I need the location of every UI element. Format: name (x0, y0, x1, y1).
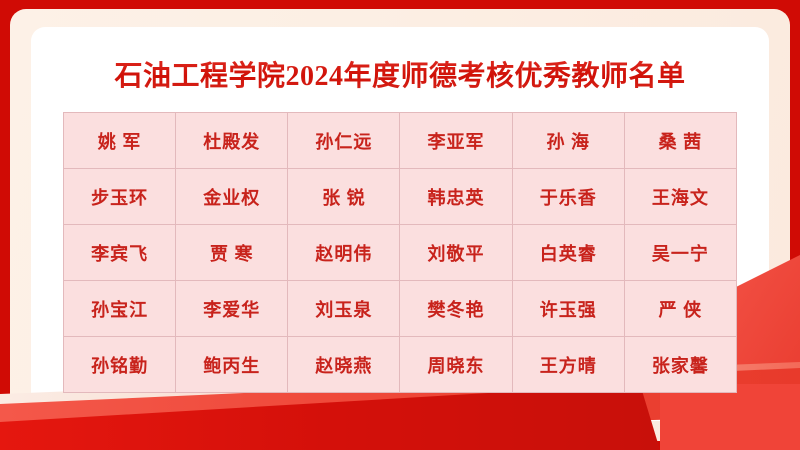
page-title: 石油工程学院2024年度师德考核优秀教师名单 (0, 54, 800, 94)
table-body: 姚 军 杜殿发 孙仁远 李亚军 孙 海 桑 茜 步玉环 金业权 张 锐 韩忠英 … (64, 113, 737, 393)
name-cell: 周晓东 (400, 337, 512, 393)
name-cell: 于乐香 (512, 169, 624, 225)
table-row: 步玉环 金业权 张 锐 韩忠英 于乐香 王海文 (64, 169, 737, 225)
name-cell: 严 侠 (624, 281, 736, 337)
name-cell: 赵明伟 (288, 225, 400, 281)
name-cell: 孙仁远 (288, 113, 400, 169)
name-cell: 刘敬平 (400, 225, 512, 281)
name-cell: 贾 寒 (176, 225, 288, 281)
name-cell: 李宾飞 (64, 225, 176, 281)
name-cell: 孙 海 (512, 113, 624, 169)
name-cell: 刘玉泉 (288, 281, 400, 337)
name-cell: 樊冬艳 (400, 281, 512, 337)
name-cell: 孙宝江 (64, 281, 176, 337)
name-cell: 杜殿发 (176, 113, 288, 169)
name-cell: 李亚军 (400, 113, 512, 169)
name-cell: 白英睿 (512, 225, 624, 281)
name-cell: 王海文 (624, 169, 736, 225)
name-cell: 桑 茜 (624, 113, 736, 169)
teacher-name-table: 姚 军 杜殿发 孙仁远 李亚军 孙 海 桑 茜 步玉环 金业权 张 锐 韩忠英 … (63, 112, 737, 393)
name-cell: 吴一宁 (624, 225, 736, 281)
name-cell: 王方晴 (512, 337, 624, 393)
name-cell: 孙铭勤 (64, 337, 176, 393)
poster-canvas: 石油工程学院2024年度师德考核优秀教师名单 姚 军 杜殿发 孙仁远 李亚军 孙… (0, 0, 800, 450)
name-cell: 赵晓燕 (288, 337, 400, 393)
name-cell: 许玉强 (512, 281, 624, 337)
name-cell: 步玉环 (64, 169, 176, 225)
table-row: 孙宝江 李爱华 刘玉泉 樊冬艳 许玉强 严 侠 (64, 281, 737, 337)
name-cell: 金业权 (176, 169, 288, 225)
name-cell: 张 锐 (288, 169, 400, 225)
name-cell: 李爱华 (176, 281, 288, 337)
table-row: 李宾飞 贾 寒 赵明伟 刘敬平 白英睿 吴一宁 (64, 225, 737, 281)
name-cell: 张家馨 (624, 337, 736, 393)
name-cell: 鲍丙生 (176, 337, 288, 393)
table-row: 姚 军 杜殿发 孙仁远 李亚军 孙 海 桑 茜 (64, 113, 737, 169)
name-cell: 姚 军 (64, 113, 176, 169)
table-row: 孙铭勤 鲍丙生 赵晓燕 周晓东 王方晴 张家馨 (64, 337, 737, 393)
name-cell: 韩忠英 (400, 169, 512, 225)
